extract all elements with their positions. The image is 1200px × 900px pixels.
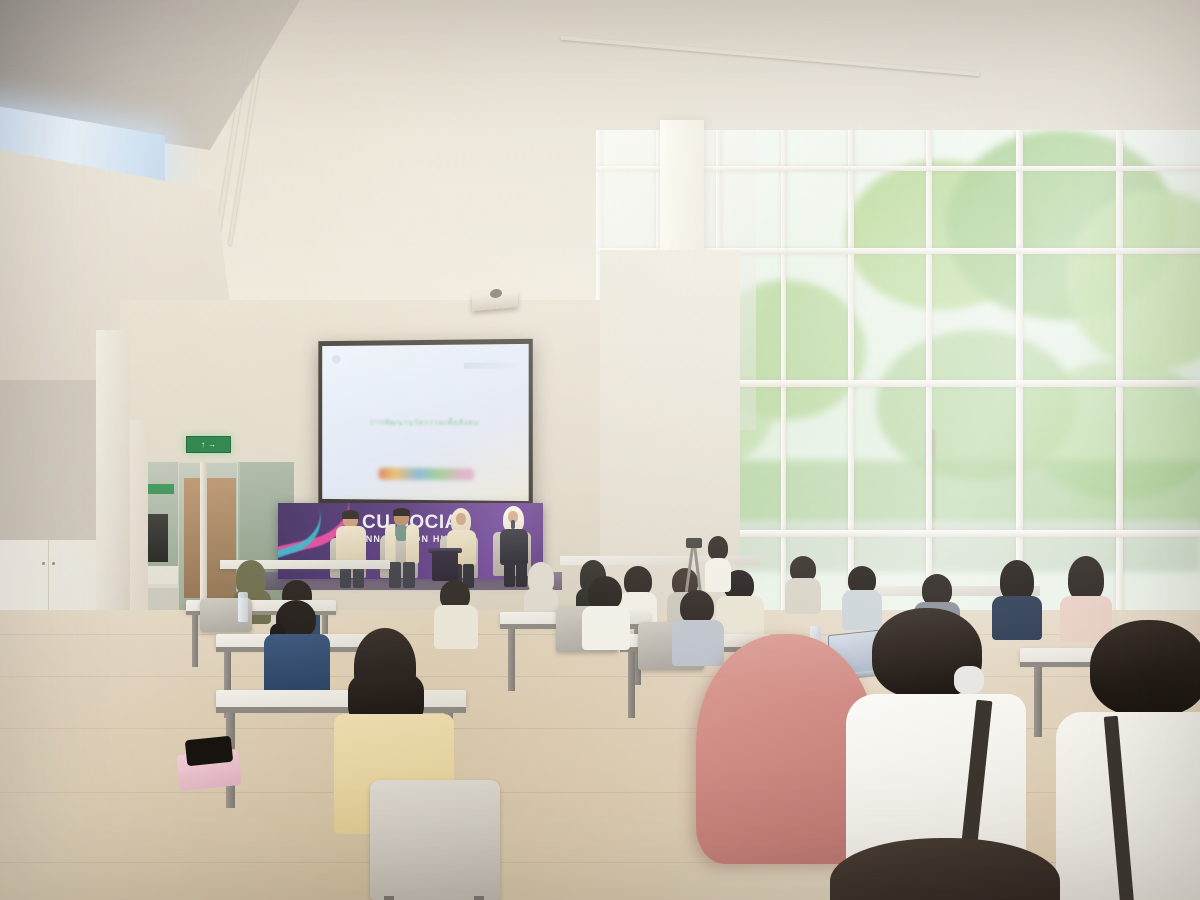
exit-arrow-icon: → xyxy=(208,441,216,449)
panel-table xyxy=(432,551,458,581)
projection-screen-surface: การพัฒนานวัตกรรมเพื่อสังคม xyxy=(322,344,528,501)
torso xyxy=(785,578,821,614)
torso xyxy=(992,596,1042,640)
exit-sign: ↑ → xyxy=(186,436,231,453)
inner-exit-sign xyxy=(148,484,174,494)
panelist-hair xyxy=(393,508,410,516)
microphone-icon xyxy=(511,520,515,529)
door-handle-icon[interactable] xyxy=(52,562,55,565)
exterior-wood-panel xyxy=(184,478,236,598)
hair xyxy=(588,576,622,610)
black-pouch xyxy=(185,736,233,767)
panelist-jacket xyxy=(336,526,366,564)
hair xyxy=(708,536,728,560)
hair xyxy=(1090,620,1200,716)
torso xyxy=(434,605,478,649)
torso xyxy=(672,620,724,666)
panelist-outfit xyxy=(500,529,528,565)
torso xyxy=(582,606,630,650)
door-mullion xyxy=(200,462,207,620)
hair xyxy=(680,590,714,624)
door-handle-icon[interactable] xyxy=(42,562,45,565)
slide-illustration xyxy=(379,468,474,481)
panelist-leg xyxy=(504,563,515,587)
ceiling-conduit xyxy=(561,36,980,77)
face-mask-icon xyxy=(954,666,984,694)
slide-title-text: การพัฒนานวัตกรรมเพื่อสังคม xyxy=(338,416,511,429)
panelist-leg xyxy=(389,562,401,588)
torso xyxy=(705,558,731,592)
panelist-leg xyxy=(403,562,415,588)
panelist-leg xyxy=(516,563,527,587)
panelist-face xyxy=(456,513,466,525)
window-mullion xyxy=(781,130,786,660)
camera-icon xyxy=(686,538,702,548)
water-bottle xyxy=(238,592,248,622)
conference-hall-photo: การพัฒนานวัตกรรมเพื่อสังคม ↑ → CU SOCIAL… xyxy=(0,0,1200,900)
slide-header-bar xyxy=(464,362,523,369)
torso xyxy=(264,634,330,696)
projection-screen: การพัฒนานวัตกรรมเพื่อสังคม xyxy=(318,339,532,506)
hijab xyxy=(236,560,266,594)
window-mullion xyxy=(1116,130,1123,660)
panelist-hair xyxy=(342,510,359,519)
slide-logo-icon xyxy=(332,355,341,364)
panelist-jacket-right xyxy=(406,524,419,564)
torso xyxy=(842,590,882,630)
running-person-icon: ↑ xyxy=(201,441,205,449)
